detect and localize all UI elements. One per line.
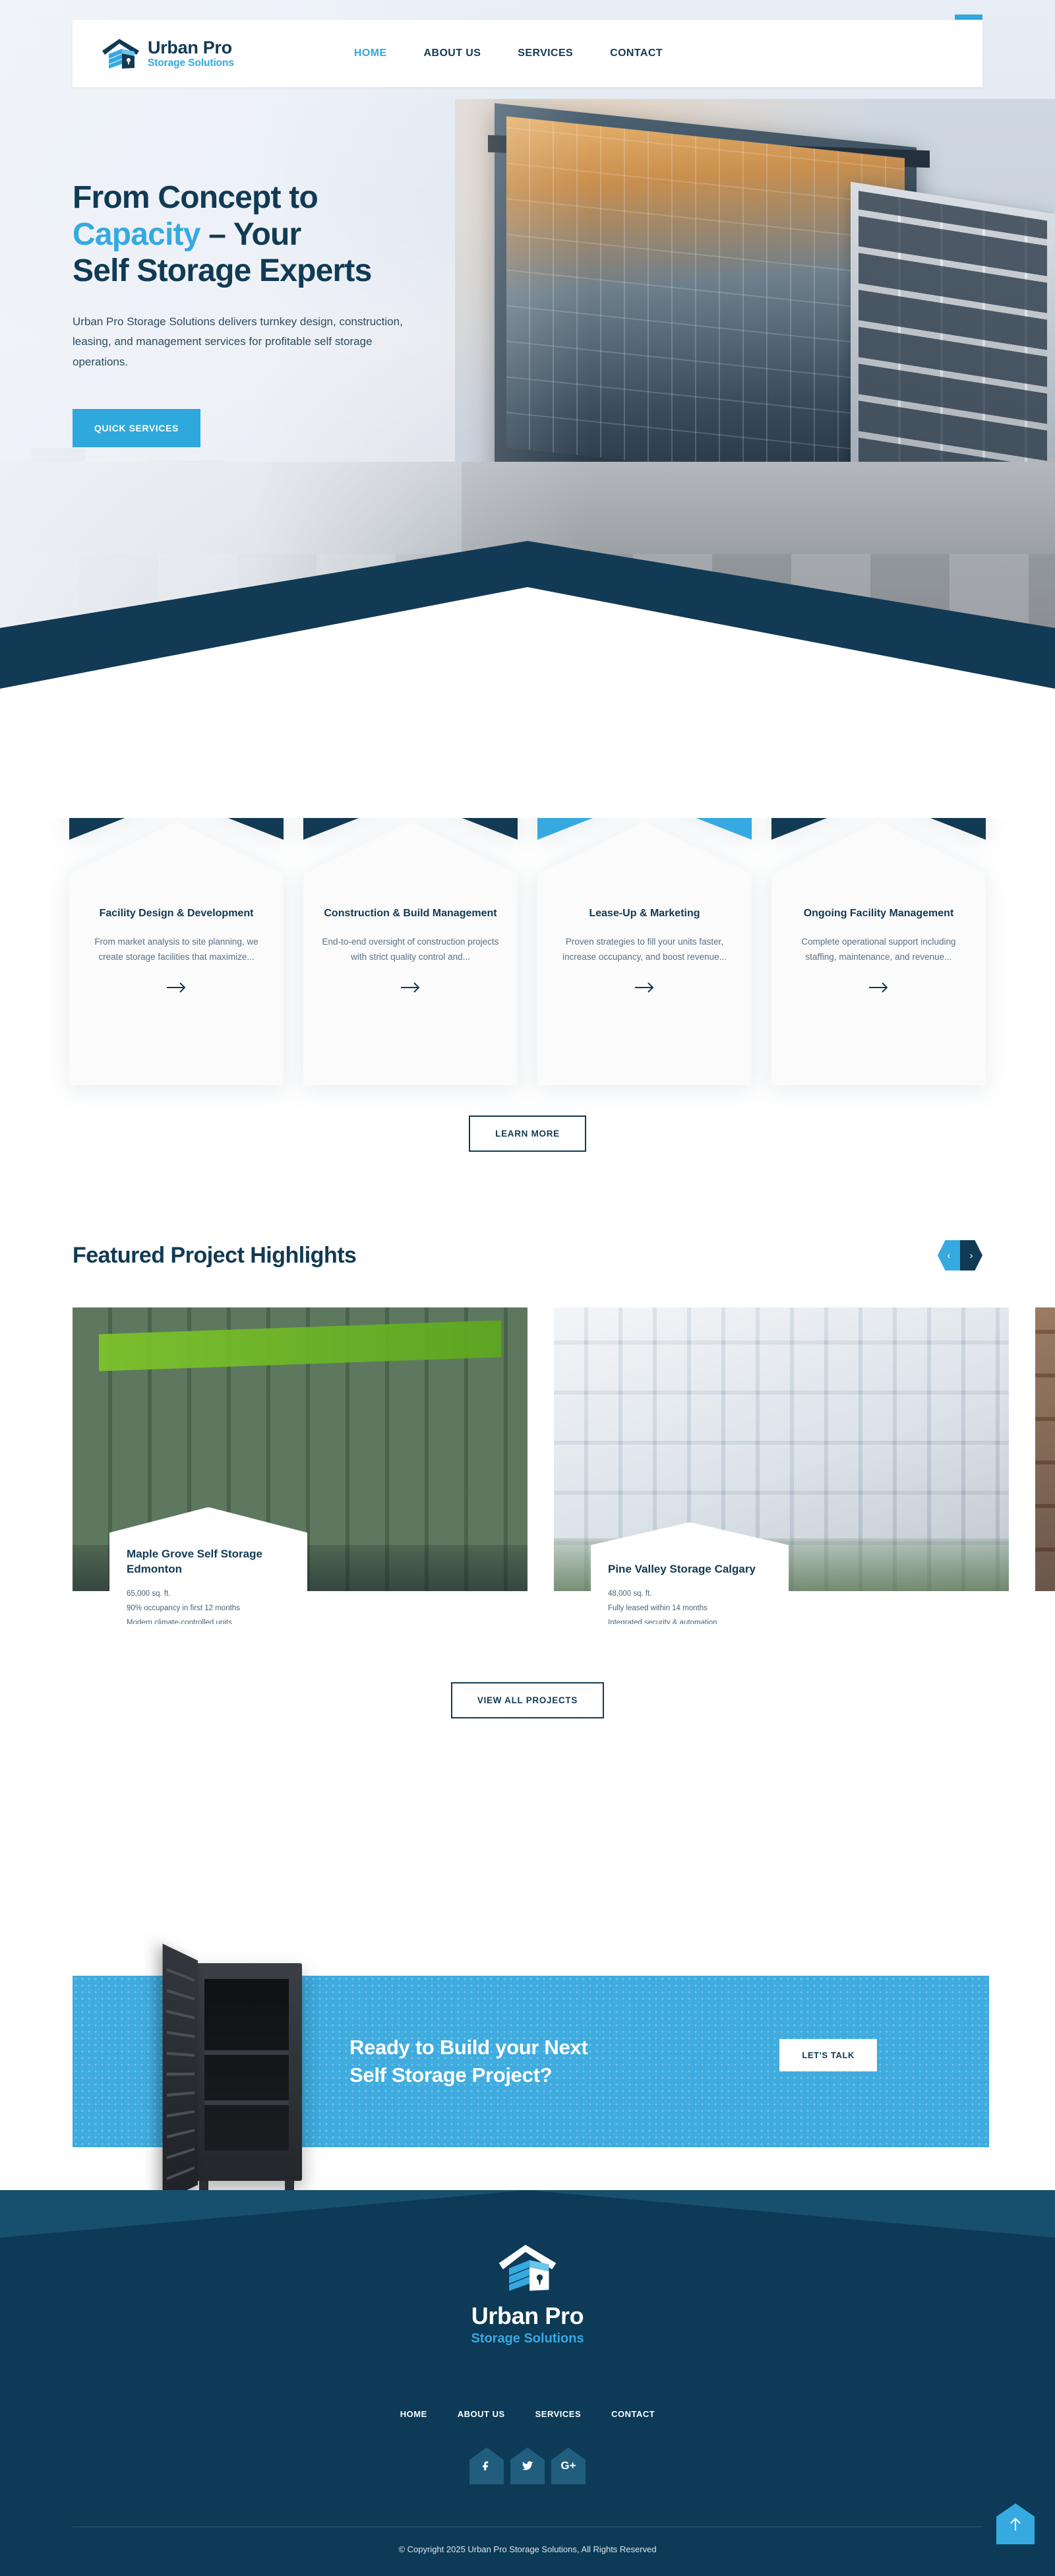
lets-talk-button[interactable]: LET'S TALK xyxy=(779,2039,877,2071)
facebook-icon[interactable] xyxy=(469,2447,504,2484)
view-all-projects-button[interactable]: VIEW ALL PROJECTS xyxy=(451,1682,604,1718)
site-header: Urban Pro Storage Solutions HOME ABOUT U… xyxy=(73,20,982,87)
project-stat: 90% occupancy in first 12 months xyxy=(127,1602,290,1616)
projects-title: Featured Project Highlights xyxy=(73,1243,356,1269)
expertise-card-list: Facility Design & Development From marke… xyxy=(0,783,1055,1085)
brand-name: Urban Pro xyxy=(148,39,234,57)
footer-copyright: © Copyright 2025 Urban Pro Storage Solut… xyxy=(0,2544,1055,2554)
nav-item-about-us[interactable]: ABOUT US xyxy=(424,47,481,59)
card-text: From market analysis to site planning, w… xyxy=(88,934,265,964)
projects-header: Featured Project Highlights ‹ › xyxy=(0,1240,1055,1271)
project-stats: 48,000 sq. ft. Fully leased within 14 mo… xyxy=(608,1587,771,1624)
footer-link-services[interactable]: SERVICES xyxy=(535,2409,582,2419)
project-stat: 65,000 sq. ft. xyxy=(127,1587,290,1602)
nav-item-contact[interactable]: CONTACT xyxy=(610,47,663,59)
project-stats: 65,000 sq. ft. 90% occupancy in first 12… xyxy=(127,1587,290,1624)
projects-carousel[interactable]: Maple Grove Self Storage Edmonton 65,000… xyxy=(0,1307,1055,1624)
cta-heading-line-2: Self Storage Project? xyxy=(349,2063,552,2087)
brand-wordmark: Urban Pro Storage Solutions xyxy=(148,39,234,69)
card-body: Lease-Up & Marketing Proven strategies t… xyxy=(537,821,752,1085)
learn-more-wrap: LEARN MORE xyxy=(0,1115,1055,1152)
card-text: Complete operational support including s… xyxy=(790,934,967,964)
hero-heading-line-1: From Concept to xyxy=(73,180,318,215)
google-plus-icon[interactable]: G+ xyxy=(551,2447,586,2484)
hero-heading-accent: Capacity xyxy=(73,217,200,252)
card-body: Facility Design & Development From marke… xyxy=(69,821,284,1085)
storage-locker-illustration xyxy=(157,1938,302,2202)
storage-unit-lock-logo-icon xyxy=(100,37,141,70)
project-card[interactable]: Maple Grove Self Storage Edmonton 65,000… xyxy=(73,1307,527,1624)
project-stat: Integrated security & automation xyxy=(608,1616,771,1624)
card-text: End-to-end oversight of construction pro… xyxy=(322,934,499,964)
hero-copy: From Concept to Capacity – Your Self Sto… xyxy=(73,179,521,447)
arrow-right-icon[interactable] xyxy=(88,982,265,993)
site-footer: Urban Pro Storage Solutions HOME ABOUT U… xyxy=(0,2190,1055,2576)
cta-heading: Ready to Build your Next Self Storage Pr… xyxy=(349,2034,588,2089)
carousel-controls: ‹ › xyxy=(938,1240,982,1271)
chevron-right-icon[interactable]: › xyxy=(960,1240,982,1271)
featured-projects-section: Featured Project Highlights ‹ › Maple Gr… xyxy=(0,1240,1055,1913)
quick-services-button[interactable]: QUICK SERVICES xyxy=(73,409,200,447)
project-name: Pine Valley Storage Calgary xyxy=(608,1562,771,1577)
locker-interior xyxy=(204,1979,289,2151)
expertise-card[interactable]: Lease-Up & Marketing Proven strategies t… xyxy=(537,783,752,1085)
footer-navigation: HOME ABOUT US SERVICES CONTACT xyxy=(0,2409,1055,2419)
brand-logo-group[interactable]: Urban Pro Storage Solutions xyxy=(100,37,234,70)
learn-more-button[interactable]: LEARN MORE xyxy=(469,1115,586,1152)
card-body: Construction & Build Management End-to-e… xyxy=(303,821,518,1085)
hero-heading-line-3: Self Storage Experts xyxy=(73,253,372,288)
card-title: Facility Design & Development xyxy=(88,906,265,921)
footer-brand: Urban Pro Storage Solutions xyxy=(0,2242,1055,2346)
homepage: Urban Pro Storage Solutions HOME ABOUT U… xyxy=(0,0,1055,2576)
twitter-icon[interactable] xyxy=(510,2447,545,2484)
project-image xyxy=(1035,1307,1055,1591)
footer-brand-name: Urban Pro xyxy=(471,2302,584,2330)
project-card[interactable]: Pine Valley Storage Calgary 48,000 sq. f… xyxy=(554,1307,1009,1624)
card-title: Construction & Build Management xyxy=(322,906,499,921)
chevron-left-icon[interactable]: ‹ xyxy=(938,1240,960,1271)
card-text: Proven strategies to fill your units fas… xyxy=(556,934,733,964)
chevron-divider xyxy=(0,541,1055,818)
arrow-right-icon[interactable] xyxy=(556,982,733,993)
footer-link-home[interactable]: HOME xyxy=(400,2409,427,2419)
nav-item-services[interactable]: SERVICES xyxy=(518,47,573,59)
hero-paragraph: Urban Pro Storage Solutions delivers tur… xyxy=(73,312,429,372)
expertise-card[interactable]: Facility Design & Development From marke… xyxy=(69,783,284,1085)
arrow-right-icon[interactable] xyxy=(322,982,499,993)
hero-heading-line-2-rest: – Your xyxy=(200,217,301,252)
locker-door xyxy=(163,1943,198,2201)
footer-link-about-us[interactable]: ABOUT US xyxy=(458,2409,505,2419)
footer-link-contact[interactable]: CONTACT xyxy=(611,2409,655,2419)
main-navigation: HOME ABOUT US SERVICES CONTACT xyxy=(354,47,663,59)
google-plus-glyph: G+ xyxy=(560,2459,576,2472)
view-all-wrap: VIEW ALL PROJECTS xyxy=(0,1682,1055,1718)
footer-divider xyxy=(73,2527,982,2527)
card-body: Ongoing Facility Management Complete ope… xyxy=(771,821,986,1085)
expertise-card[interactable]: Construction & Build Management End-to-e… xyxy=(303,783,518,1085)
storage-unit-lock-logo-icon xyxy=(496,2242,559,2293)
project-stat: 48,000 sq. ft. xyxy=(608,1587,771,1602)
card-title: Ongoing Facility Management xyxy=(790,906,967,921)
locker-shelf xyxy=(204,2050,289,2055)
project-card[interactable]: Riverside Storage Regina 65,000 sq. ft. … xyxy=(1035,1307,1055,1624)
footer-brand-subtitle: Storage Solutions xyxy=(471,2331,584,2346)
project-name: Maple Grove Self Storage Edmonton xyxy=(127,1547,290,1577)
hero-heading: From Concept to Capacity – Your Self Sto… xyxy=(73,179,521,290)
footer-social-links: G+ xyxy=(0,2447,1055,2484)
cta-section: Ready to Build your Next Self Storage Pr… xyxy=(0,1906,1055,2210)
project-stat: Modern climate-controlled units xyxy=(127,1616,290,1624)
cta-heading-line-1: Ready to Build your Next xyxy=(349,2036,588,2059)
project-stat: Fully leased within 14 months xyxy=(608,1602,771,1616)
expertise-card[interactable]: Ongoing Facility Management Complete ope… xyxy=(771,783,986,1085)
arrow-right-icon[interactable] xyxy=(790,982,967,993)
card-title: Lease-Up & Marketing xyxy=(556,906,733,921)
nav-item-home[interactable]: HOME xyxy=(354,47,387,59)
locker-shelf xyxy=(204,2100,289,2105)
brand-subtitle: Storage Solutions xyxy=(148,58,234,69)
